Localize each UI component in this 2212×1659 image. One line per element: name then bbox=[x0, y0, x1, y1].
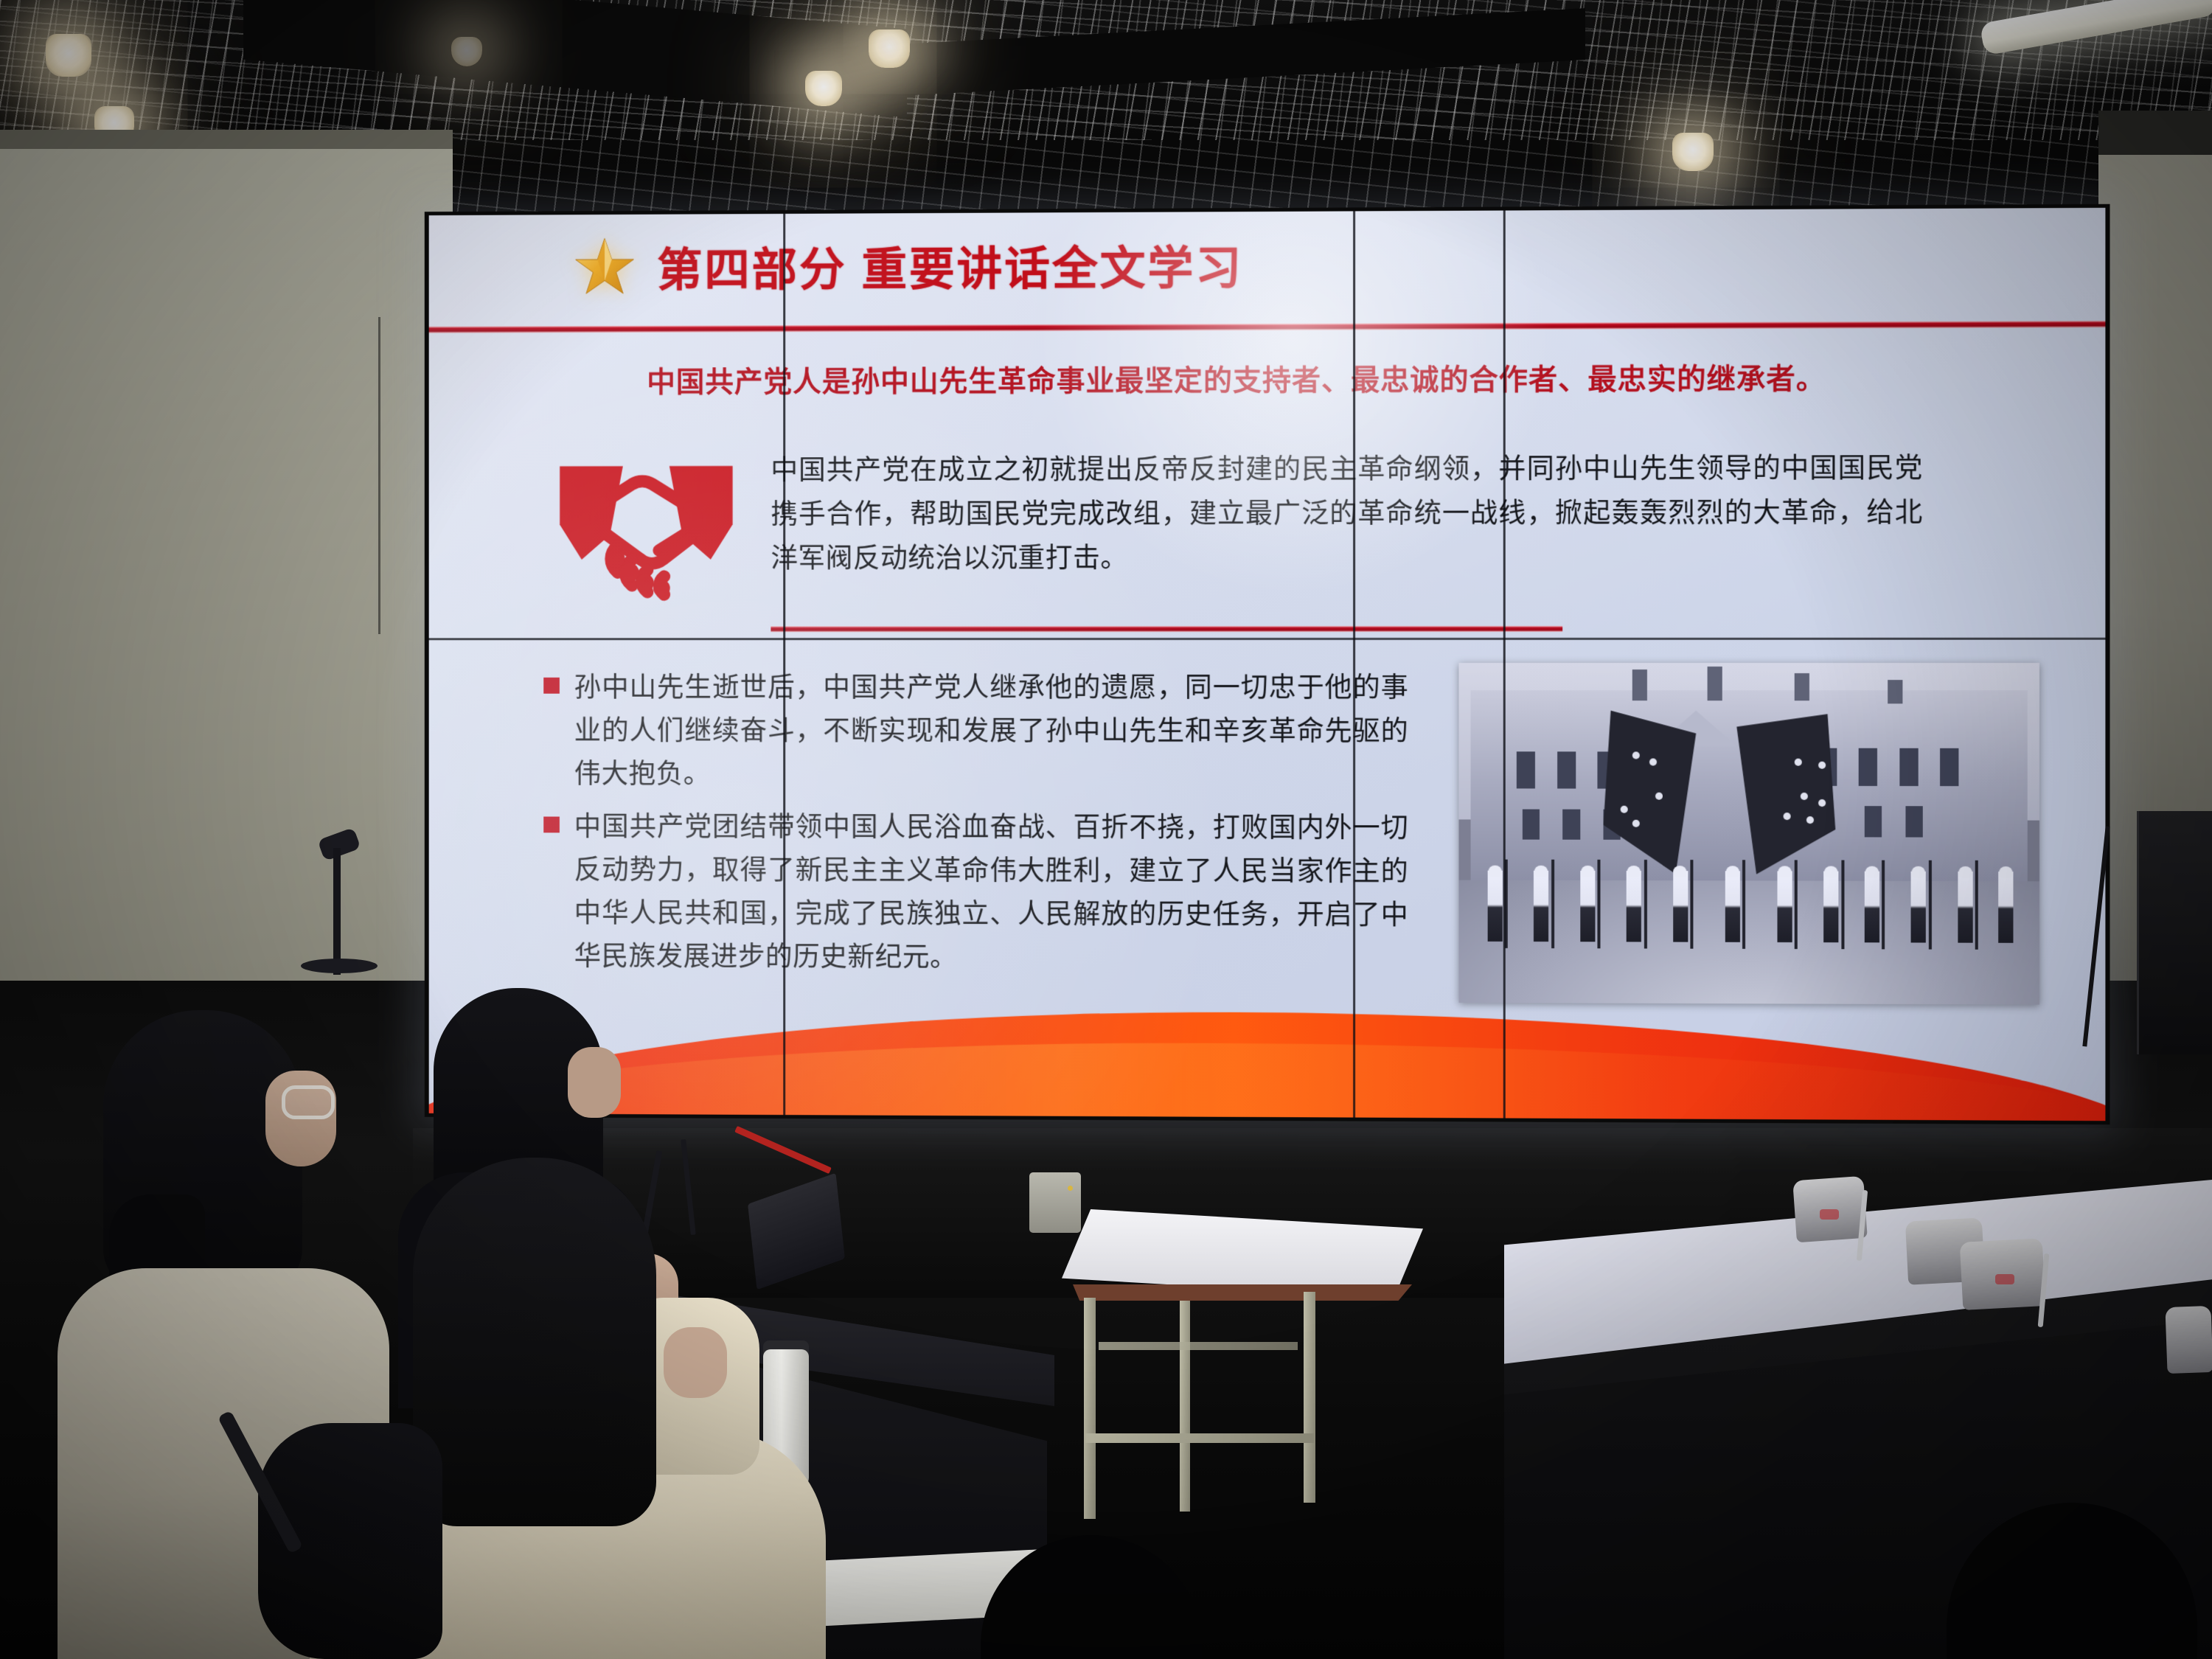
photo-window bbox=[1865, 806, 1882, 837]
photo-window bbox=[1940, 748, 1958, 786]
slide-paragraph: 中国共产党在成立之初就提出反帝反封建的民主革命纲领，并同孙中山先生领导的中国国民… bbox=[771, 446, 1922, 580]
bullet-square-icon bbox=[543, 678, 560, 694]
bullet-square-icon bbox=[543, 816, 560, 832]
left-wall bbox=[0, 130, 453, 985]
handshake-icon bbox=[556, 462, 737, 611]
left-wall-trim bbox=[0, 130, 453, 149]
paragraph-divider-rule bbox=[771, 626, 1562, 632]
photo-chimney bbox=[1632, 669, 1647, 700]
audience-person-hair bbox=[413, 1158, 656, 1526]
slide-bullet-list: 孙中山先生逝世后，中国共产党人继承他的遗愿，同一切忠于他的事业的人们继续奋斗，不… bbox=[543, 666, 1408, 990]
video-wall-display[interactable]: 第四部分 重要讲话全文学习 中国共产党人是孙中山先生革命事业最坚定的支持者、最忠… bbox=[425, 204, 2110, 1125]
list-item: 中国共产党团结带领中国人民浴血奋战、百折不挠，打败国内外一切反动势力，取得了新民… bbox=[543, 804, 1408, 981]
presentation-slide: 第四部分 重要讲话全文学习 中国共产党人是孙中山先生革命事业最坚定的支持者、最忠… bbox=[429, 208, 2106, 1121]
slide-subtitle: 中国共产党人是孙中山先生革命事业最坚定的支持者、最忠诚的合作者、最忠实的继承者。 bbox=[647, 361, 1915, 402]
gold-star-icon bbox=[574, 237, 636, 296]
photo-window bbox=[1517, 751, 1535, 789]
conference-room-scene: 第四部分 重要讲话全文学习 中国共产党人是孙中山先生革命事业最坚定的支持者、最忠… bbox=[0, 0, 2212, 1659]
photo-chimney bbox=[1795, 673, 1809, 700]
audience-person-face bbox=[568, 1047, 621, 1118]
title-divider-rule bbox=[429, 321, 2106, 333]
bullet-text: 孙中山先生逝世后，中国共产党人继承他的遗愿，同一切忠于他的事业的人们继续奋斗，不… bbox=[574, 666, 1409, 797]
slide-title-row: 第四部分 重要讲话全文学习 bbox=[574, 231, 1244, 299]
panel-seam bbox=[783, 214, 785, 1115]
downlight-icon bbox=[805, 71, 842, 106]
microphone-stand bbox=[333, 848, 341, 975]
panel-seam bbox=[1353, 211, 1355, 1117]
downlight-icon bbox=[1672, 133, 1714, 171]
historical-photo bbox=[1458, 663, 2039, 1005]
microphone-base bbox=[301, 959, 378, 973]
slide-footer-wave bbox=[429, 1005, 2106, 1121]
photo-window bbox=[1859, 748, 1877, 786]
downlight-icon bbox=[46, 34, 91, 77]
bullet-text: 中国共产党团结带领中国人民浴血奋战、百折不挠，打败国内外一切反动势力，取得了新民… bbox=[574, 804, 1409, 981]
downlight-icon bbox=[869, 29, 910, 68]
slide-title: 第四部分 重要讲话全文学习 bbox=[657, 231, 1243, 299]
chair bbox=[2165, 1306, 2212, 1374]
photo-window bbox=[1899, 748, 1918, 786]
panel-seam bbox=[429, 638, 2106, 641]
photo-window bbox=[1905, 806, 1923, 837]
audience-person-hand bbox=[664, 1327, 727, 1398]
speaker-led-icon bbox=[1068, 1186, 1073, 1191]
downlight-icon bbox=[451, 37, 482, 66]
photo-window bbox=[1557, 751, 1576, 789]
right-wall-trim bbox=[2098, 111, 2212, 155]
photo-chimney bbox=[1888, 680, 1902, 703]
photo-chimney bbox=[1708, 667, 1722, 700]
speaker-box bbox=[1029, 1172, 1081, 1233]
floor-speaker bbox=[2137, 811, 2212, 1054]
photo-window bbox=[1523, 809, 1540, 840]
wall-seam bbox=[378, 317, 380, 634]
slide-paragraph-block: 中国共产党在成立之初就提出反帝反封建的民主革命纲领，并同孙中山先生领导的中国国民… bbox=[771, 446, 1922, 580]
eyeglasses-icon bbox=[282, 1085, 335, 1119]
panel-seam bbox=[1503, 210, 1506, 1118]
photo-window bbox=[1563, 809, 1581, 840]
list-item: 孙中山先生逝世后，中国共产党人继承他的遗愿，同一切忠于他的事业的人们继续奋斗，不… bbox=[543, 666, 1408, 797]
